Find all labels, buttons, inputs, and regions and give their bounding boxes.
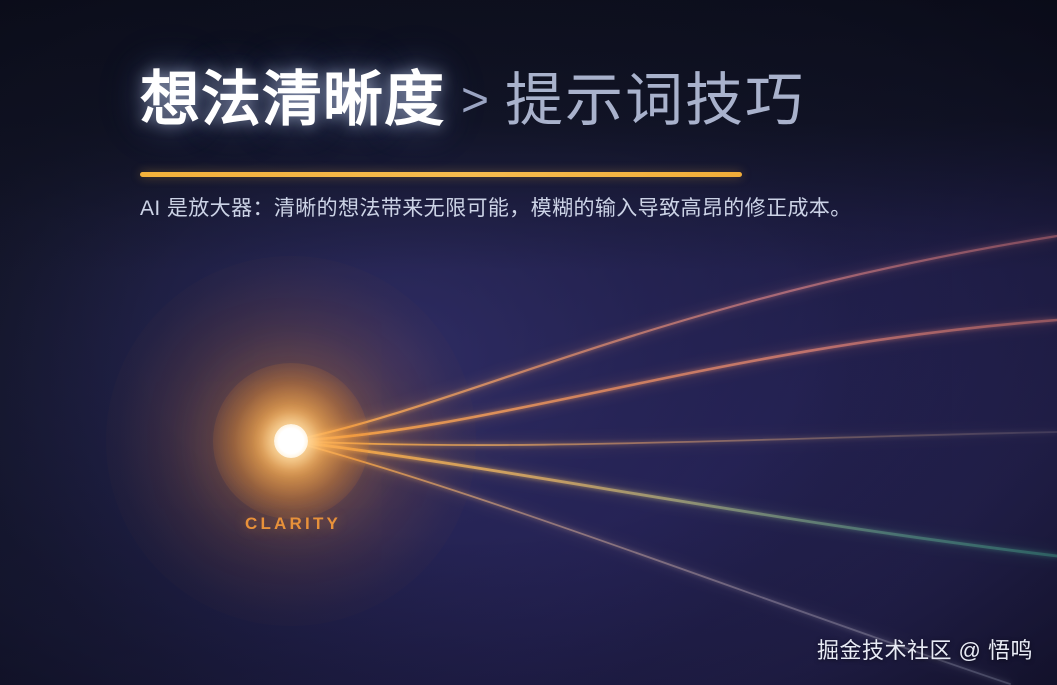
title-separator-icon: > bbox=[445, 74, 505, 127]
subtitle: AI 是放大器：清晰的想法带来无限可能，模糊的输入导致高昂的修正成本。 bbox=[140, 192, 852, 222]
title-primary: 想法清晰度 bbox=[140, 66, 445, 133]
slide-root: 想法清晰度>提示词技巧 AI 是放大器：清晰的想法带来无限可能，模糊的输入导致高… bbox=[0, 0, 1057, 685]
title-secondary: 提示词技巧 bbox=[505, 68, 805, 133]
watermark: 掘金技术社区 @ 悟鸣 bbox=[817, 633, 1033, 665]
clarity-label: CLARITY bbox=[245, 514, 341, 534]
page-title: 想法清晰度>提示词技巧 bbox=[140, 70, 805, 130]
title-accent-bar bbox=[140, 172, 742, 177]
